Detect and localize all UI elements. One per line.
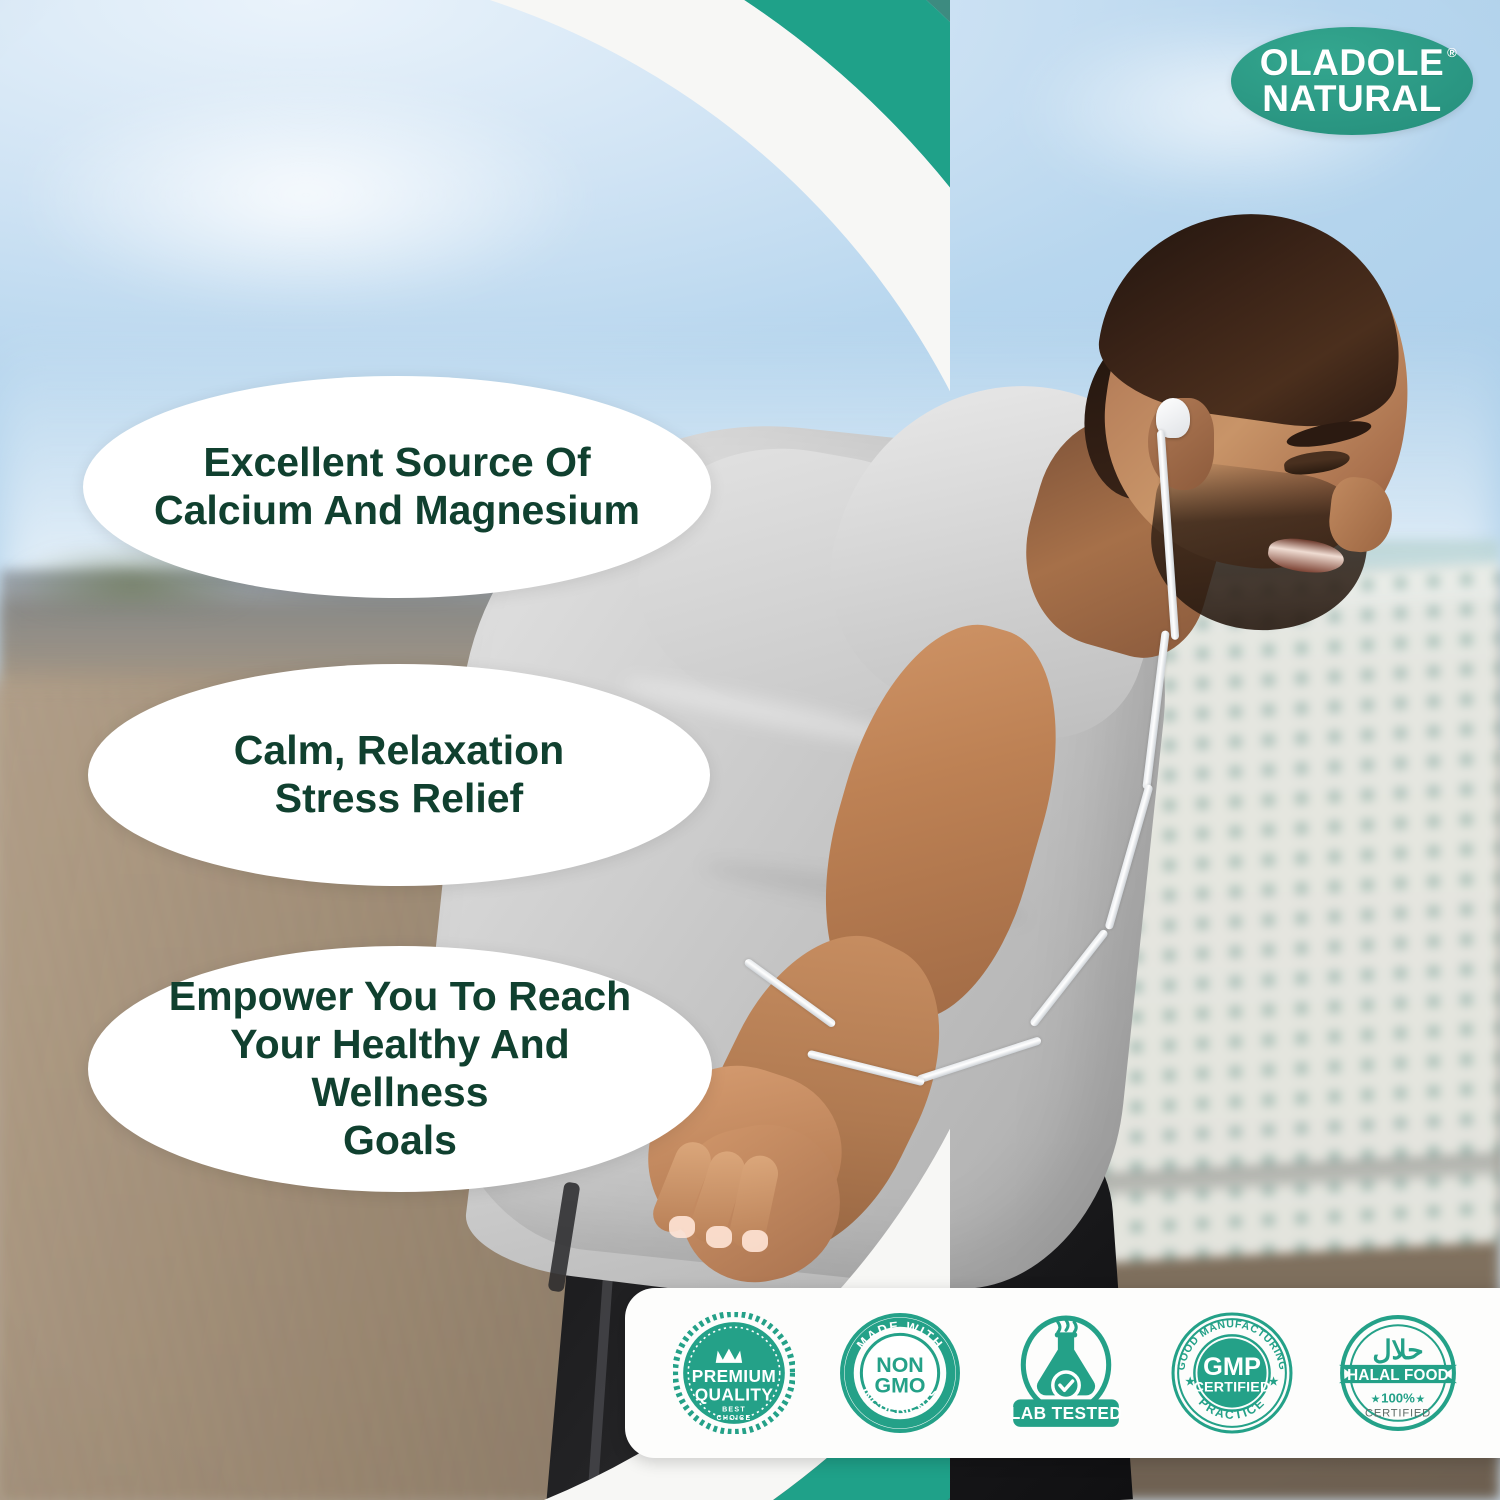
benefit-bubble-wellness-goals: Empower You To Reach Your Healthy And We… bbox=[88, 946, 712, 1192]
halal-seal-icon: حلال HALAL FOOD ★ 100% ★ CERTIFIED bbox=[1339, 1317, 1457, 1429]
badge-line-1: 100% bbox=[1381, 1390, 1415, 1405]
badge-arabic-text: حلال bbox=[1372, 1335, 1423, 1365]
badge-halal-food: حلال HALAL FOOD ★ 100% ★ CERTIFIED bbox=[1337, 1312, 1459, 1434]
badge-line-1: GMP bbox=[1203, 1353, 1261, 1381]
badge-ribbon-label: HALAL FOOD bbox=[1347, 1367, 1449, 1384]
benefit-bubble-calcium-magnesium: Excellent Source Of Calcium And Magnesiu… bbox=[83, 376, 711, 598]
logo-text-oladole: OLADOLE bbox=[1260, 42, 1444, 83]
logo-line-oladole: OLADOLE® bbox=[1260, 45, 1444, 81]
benefit-text: Empower You To Reach Your Healthy And We… bbox=[142, 973, 658, 1165]
badge-label: LAB TESTED bbox=[1010, 1403, 1122, 1423]
star-right-icon: ★ bbox=[1415, 1393, 1425, 1405]
badge-line-2: CERTIFIED bbox=[1194, 1379, 1271, 1395]
gmp-seal-icon: GOOD MANUFACTURING PRACTICE GMP CERTIFIE… bbox=[1173, 1314, 1291, 1432]
badge-non-gmo: MADE WITH INGREDIENTS NON GMO bbox=[839, 1312, 961, 1434]
brand-logo[interactable]: OLADOLE® NATURAL bbox=[1231, 27, 1473, 135]
registered-trademark-icon: ® bbox=[1447, 47, 1457, 60]
benefit-text: Calm, Relaxation Stress Relief bbox=[234, 727, 564, 823]
flask-check-icon: LAB TESTED bbox=[1010, 1318, 1122, 1427]
badge-line-2: QUALITY bbox=[695, 1384, 774, 1404]
benefit-bubble-calm-relaxation: Calm, Relaxation Stress Relief bbox=[88, 664, 710, 886]
badge-line-3: BEST bbox=[722, 1406, 746, 1414]
badge-line-2: CERTIFIED bbox=[1365, 1408, 1431, 1420]
star-left-icon: ★ bbox=[1185, 1376, 1195, 1388]
crown-seal-icon: PREMIUM QUALITY BEST CHOICE bbox=[675, 1314, 793, 1432]
non-gmo-seal-icon: MADE WITH INGREDIENTS NON GMO bbox=[842, 1315, 958, 1431]
logo-text-natural: NATURAL bbox=[1262, 81, 1442, 117]
badge-lab-tested: LAB TESTED bbox=[1005, 1312, 1127, 1434]
star-left-icon: ★ bbox=[1371, 1393, 1381, 1405]
badge-line-1: PREMIUM bbox=[692, 1366, 776, 1386]
certification-badge-strip: PREMIUM QUALITY BEST CHOICE bbox=[625, 1288, 1500, 1458]
benefit-text: Excellent Source Of Calcium And Magnesiu… bbox=[154, 439, 640, 535]
product-feature-graphic: OLADOLE® NATURAL Excellent Source Of Cal… bbox=[0, 0, 1500, 1500]
badge-line-4: CHOICE bbox=[717, 1414, 752, 1422]
badge-line-2: GMO bbox=[875, 1373, 926, 1397]
badge-gmp-certified: GOOD MANUFACTURING PRACTICE GMP CERTIFIE… bbox=[1171, 1312, 1293, 1434]
star-right-icon: ★ bbox=[1269, 1376, 1279, 1388]
badge-premium-quality: PREMIUM QUALITY BEST CHOICE bbox=[673, 1312, 795, 1434]
